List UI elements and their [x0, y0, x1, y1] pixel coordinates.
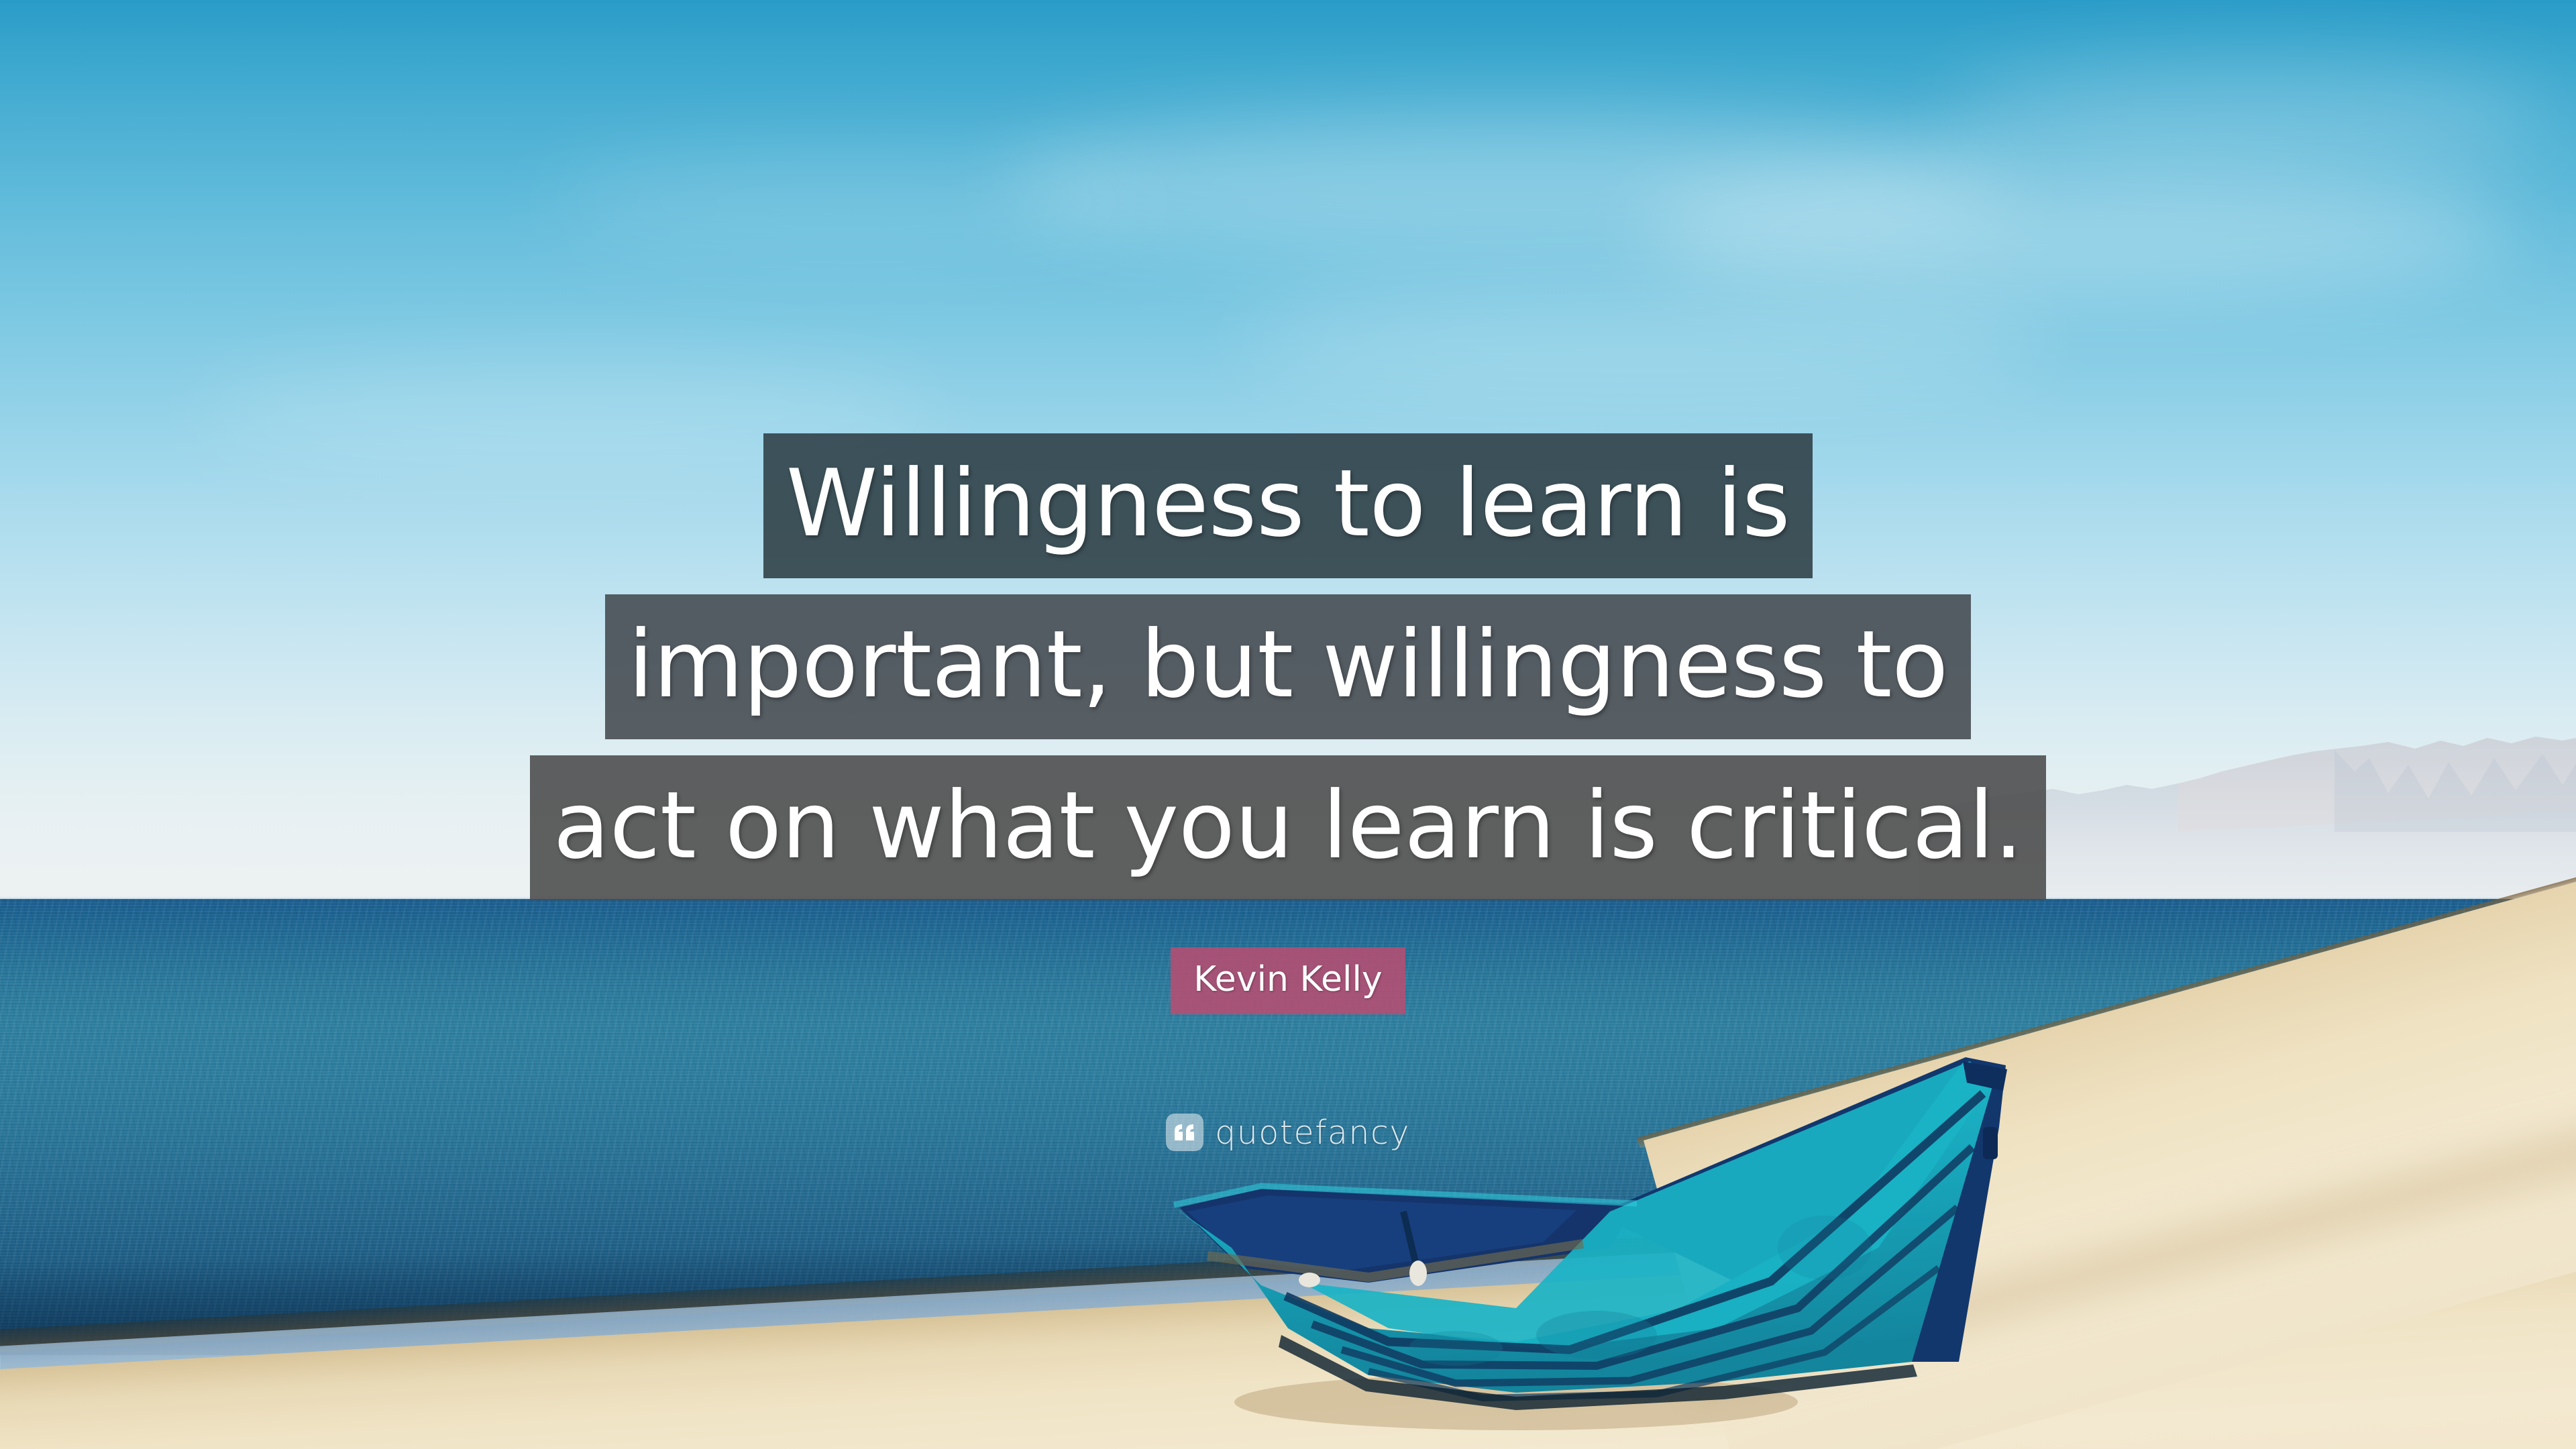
quote-line-wrapper: Willingness to learn is [0, 433, 2576, 578]
quote-line-wrapper: act on what you learn is critical. [0, 755, 2576, 900]
quote-line-2: important, but willingness to [605, 594, 1971, 739]
quote-wallpaper: Willingness to learn is important, but w… [0, 0, 2576, 1449]
quote-line-wrapper: important, but willingness to [0, 594, 2576, 739]
cloud-wisp [1241, 288, 2046, 396]
author-attribution: Kevin Kelly [0, 947, 2576, 1014]
cloud-wisp [1006, 114, 2012, 255]
cloud-wisp [1945, 60, 2549, 174]
quote-text-block: Willingness to learn is important, but w… [0, 433, 2576, 900]
cloud-wisp [550, 154, 1154, 248]
wooden-boat [1167, 1046, 2066, 1449]
quote-line-1: Willingness to learn is [763, 433, 1813, 578]
cloud-wisp [1644, 168, 2516, 295]
quote-line-3: act on what you learn is critical. [530, 755, 2045, 900]
author-name-badge: Kevin Kelly [1171, 947, 1405, 1014]
